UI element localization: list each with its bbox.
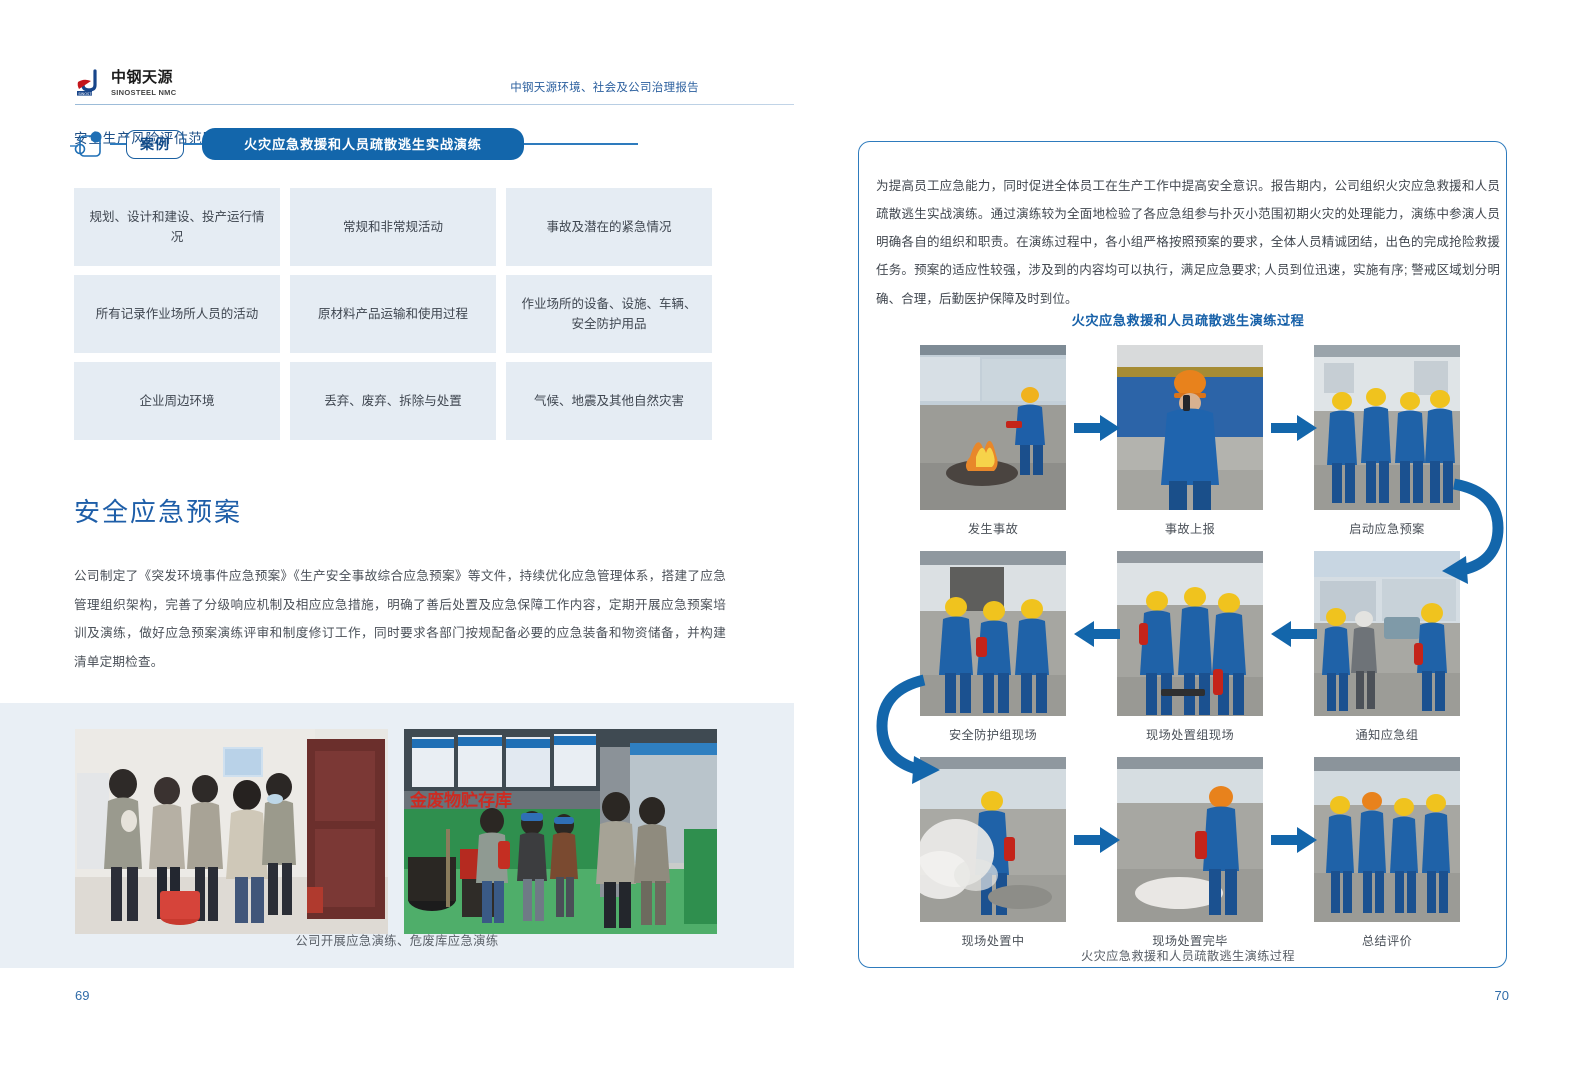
arrow-left-icon bbox=[1271, 621, 1317, 647]
flow-step-caption: 发生事故 bbox=[920, 510, 1066, 537]
report-spread: SINOSTEEL 中钢天源 SINOSTEEL NMC 中钢天源环境、社会及公… bbox=[0, 0, 1587, 1077]
flow-diagram-title: 火灾应急救援和人员疏散逃生演练过程 bbox=[876, 310, 1500, 329]
flow-step-image bbox=[1117, 345, 1263, 510]
flow-row-2: 安全防护组现场 bbox=[920, 551, 1460, 743]
photo-row: 金废物贮存库 bbox=[75, 729, 717, 934]
flow-row-3: 现场处置中 bbox=[920, 757, 1460, 949]
flow-step-caption: 事故上报 bbox=[1117, 510, 1263, 537]
svg-text:SINOSTEEL: SINOSTEEL bbox=[78, 92, 98, 96]
grid-cell: 常规和非常规活动 bbox=[290, 188, 496, 266]
flow-step-caption: 现场处置中 bbox=[920, 922, 1066, 949]
grid-cell: 作业场所的设备、设施、车辆、安全防护用品 bbox=[506, 275, 712, 353]
grid-cell: 企业周边环境 bbox=[74, 362, 280, 440]
photo-hazardous-waste-drill: 金废物贮存库 bbox=[404, 729, 717, 934]
arrow-left-icon bbox=[1074, 621, 1120, 647]
page-title: 安全应急预案 bbox=[74, 492, 242, 529]
arrow-right-icon bbox=[1271, 415, 1317, 441]
flow-row-1: 发生事故 bbox=[920, 345, 1460, 537]
arrow-right-icon bbox=[1074, 415, 1120, 441]
flow-step: 事故上报 bbox=[1117, 345, 1263, 537]
flow-step-caption: 现场处置完毕 bbox=[1117, 922, 1263, 949]
photo-caption: 公司开展应急演练、危废库应急演练 bbox=[0, 931, 794, 949]
left-page: SINOSTEEL 中钢天源 SINOSTEEL NMC 中钢天源环境、社会及公… bbox=[0, 0, 794, 1077]
grid-cell: 规划、设计和建设、投产运行情况 bbox=[74, 188, 280, 266]
flow-step-caption: 通知应急组 bbox=[1314, 716, 1460, 743]
logo-text-en: SINOSTEEL NMC bbox=[111, 88, 176, 97]
grid-cell: 原材料产品运输和使用过程 bbox=[290, 275, 496, 353]
flow-step: 总结评价 bbox=[1314, 757, 1460, 949]
flow-step-image bbox=[1117, 551, 1263, 716]
grid-cell: 事故及潜在的紧急情况 bbox=[506, 188, 712, 266]
sinosteel-logo-icon: SINOSTEEL bbox=[75, 68, 105, 98]
photo-panel: 金废物贮存库 bbox=[0, 703, 794, 968]
body-paragraph: 公司制定了《突发环境事件应急预案》《生产安全事故综合应急预案》等文件，持续优化应… bbox=[74, 562, 726, 677]
curved-arrow-down-left-icon bbox=[866, 664, 952, 793]
case-decoration-icon bbox=[70, 130, 110, 158]
connector-line bbox=[184, 143, 202, 144]
grid-cell: 所有记录作业场所人员的活动 bbox=[74, 275, 280, 353]
case-header: 案例 火灾应急救援和人员疏散逃生实战演练 bbox=[70, 129, 715, 159]
photo-emergency-drill-indoor bbox=[75, 729, 388, 934]
flow-step-image bbox=[1117, 757, 1263, 922]
logo-text-cn: 中钢天源 bbox=[111, 70, 176, 85]
arrow-right-icon bbox=[1074, 827, 1120, 853]
case-title: 火灾应急救援和人员疏散逃生实战演练 bbox=[202, 128, 524, 160]
case-paragraph: 为提高员工应急能力，同时促进全体员工在生产工作中提高安全意识。报告期内，公司组织… bbox=[876, 172, 1500, 313]
case-badge: 案例 bbox=[126, 130, 184, 159]
flow-step: 现场处置组现场 bbox=[1117, 551, 1263, 743]
page-number-right: 70 bbox=[1495, 988, 1509, 1003]
connector-line bbox=[524, 143, 638, 144]
connector-line bbox=[110, 143, 126, 144]
flow-step-caption: 现场处置组现场 bbox=[1117, 716, 1263, 743]
grid-cell: 气候、地震及其他自然灾害 bbox=[506, 362, 712, 440]
risk-scope-grid: 规划、设计和建设、投产运行情况 常规和非常规活动 事故及潜在的紧急情况 所有记录… bbox=[74, 188, 712, 440]
svg-text:金废物贮存库: 金废物贮存库 bbox=[409, 790, 512, 811]
flow-step: 发生事故 bbox=[920, 345, 1066, 537]
arrow-right-icon bbox=[1271, 827, 1317, 853]
flow-step-image bbox=[1314, 757, 1460, 922]
flow-step: 现场处置完毕 bbox=[1117, 757, 1263, 949]
flow-diagram-footer: 火灾应急救援和人员疏散逃生演练过程 bbox=[876, 946, 1500, 964]
grid-cell: 丢弃、废弃、拆除与处置 bbox=[290, 362, 496, 440]
report-title: 中钢天源环境、社会及公司治理报告 bbox=[510, 79, 699, 95]
page-number-left: 69 bbox=[75, 988, 89, 1003]
flow-diagram: 发生事故 bbox=[920, 345, 1460, 963]
flow-step-image bbox=[920, 345, 1066, 510]
curved-arrow-down-right-icon bbox=[1432, 468, 1512, 593]
flow-step-caption: 总结评价 bbox=[1314, 922, 1460, 949]
company-logo: SINOSTEEL 中钢天源 SINOSTEEL NMC bbox=[75, 68, 176, 98]
